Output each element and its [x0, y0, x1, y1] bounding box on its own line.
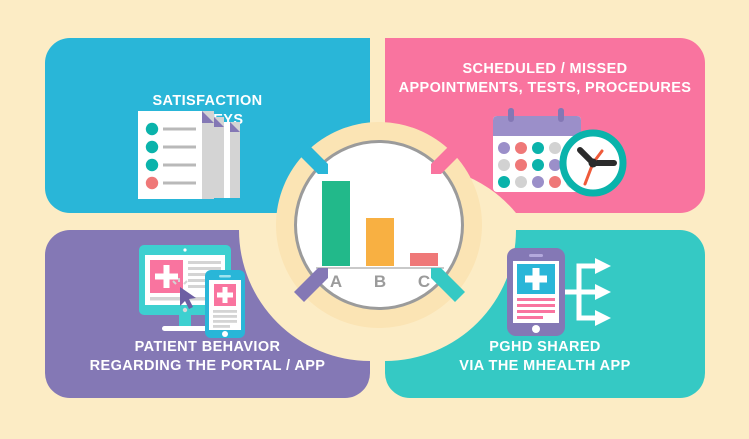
desktop-mobile-portal-icon	[135, 240, 255, 345]
arrow-from-pghd-shared	[427, 264, 469, 311]
panel-title-line-2: VIA THE MHEALTH APP	[385, 357, 705, 376]
chart-labels: A B C	[322, 272, 438, 292]
calendar-clock-icon	[490, 106, 635, 206]
panel-title: SCHEDULED / MISSED APPOINTMENTS, TESTS, …	[385, 60, 705, 98]
panel-title-line-2: APPOINTMENTS, TESTS, PROCEDURES	[385, 79, 705, 98]
arrow-from-satisfaction-surveys	[290, 136, 332, 183]
panel-title-line-1: SCHEDULED / MISSED	[385, 60, 705, 79]
mobile-share-icon	[495, 242, 620, 347]
chart-label-b: B	[366, 272, 394, 292]
panel-title-line-2: REGARDING THE PORTAL / APP	[45, 357, 370, 376]
arrow-from-patient-behavior	[290, 264, 332, 311]
diagram-canvas: SATISFACTION SURVEYS	[0, 0, 749, 439]
survey-documents-icon	[128, 108, 258, 213]
chart-bars	[322, 174, 438, 266]
bar-b	[366, 218, 394, 266]
chart-axis	[316, 267, 444, 269]
bar-a	[322, 181, 350, 266]
arrow-from-scheduled-missed-appointments	[427, 136, 469, 183]
